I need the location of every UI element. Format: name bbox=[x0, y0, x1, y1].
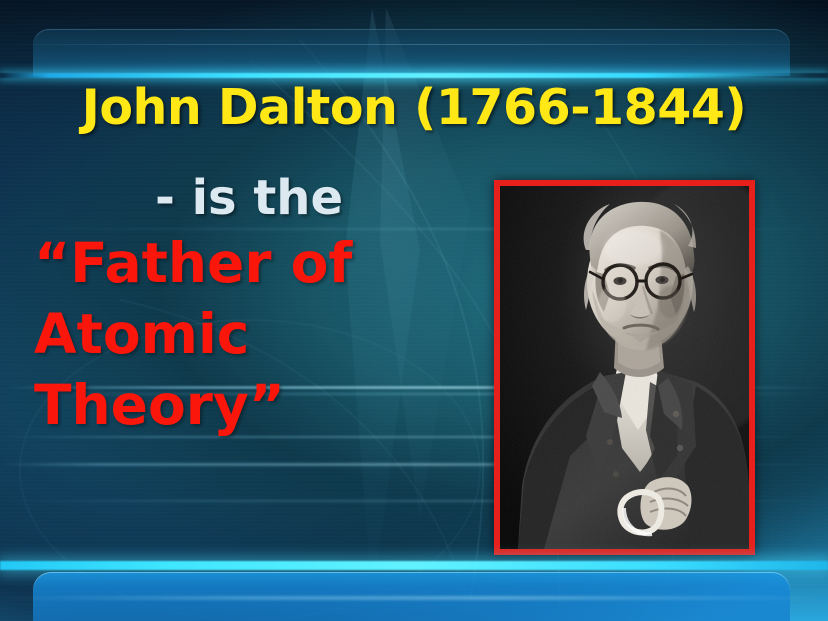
top-glow-line bbox=[0, 73, 828, 78]
dalton-portrait-image bbox=[500, 186, 749, 549]
dalton-portrait-frame bbox=[494, 180, 755, 555]
emphasis-line-2: Atomic bbox=[34, 299, 464, 370]
intro-line: - is the bbox=[34, 168, 464, 228]
presentation-slide: John Dalton (1766-1844) - is the “Father… bbox=[0, 0, 828, 621]
slide-title: John Dalton (1766-1844) bbox=[0, 79, 828, 137]
slide-body-text: - is the “Father of Atomic Theory” bbox=[34, 168, 464, 441]
bottom-glow-line bbox=[0, 561, 828, 570]
top-bar-edge-line bbox=[0, 44, 828, 45]
emphasis-line-1: “Father of bbox=[34, 228, 464, 299]
bottom-sheen bbox=[0, 596, 828, 600]
emphasis-line-3: Theory” bbox=[34, 370, 464, 441]
